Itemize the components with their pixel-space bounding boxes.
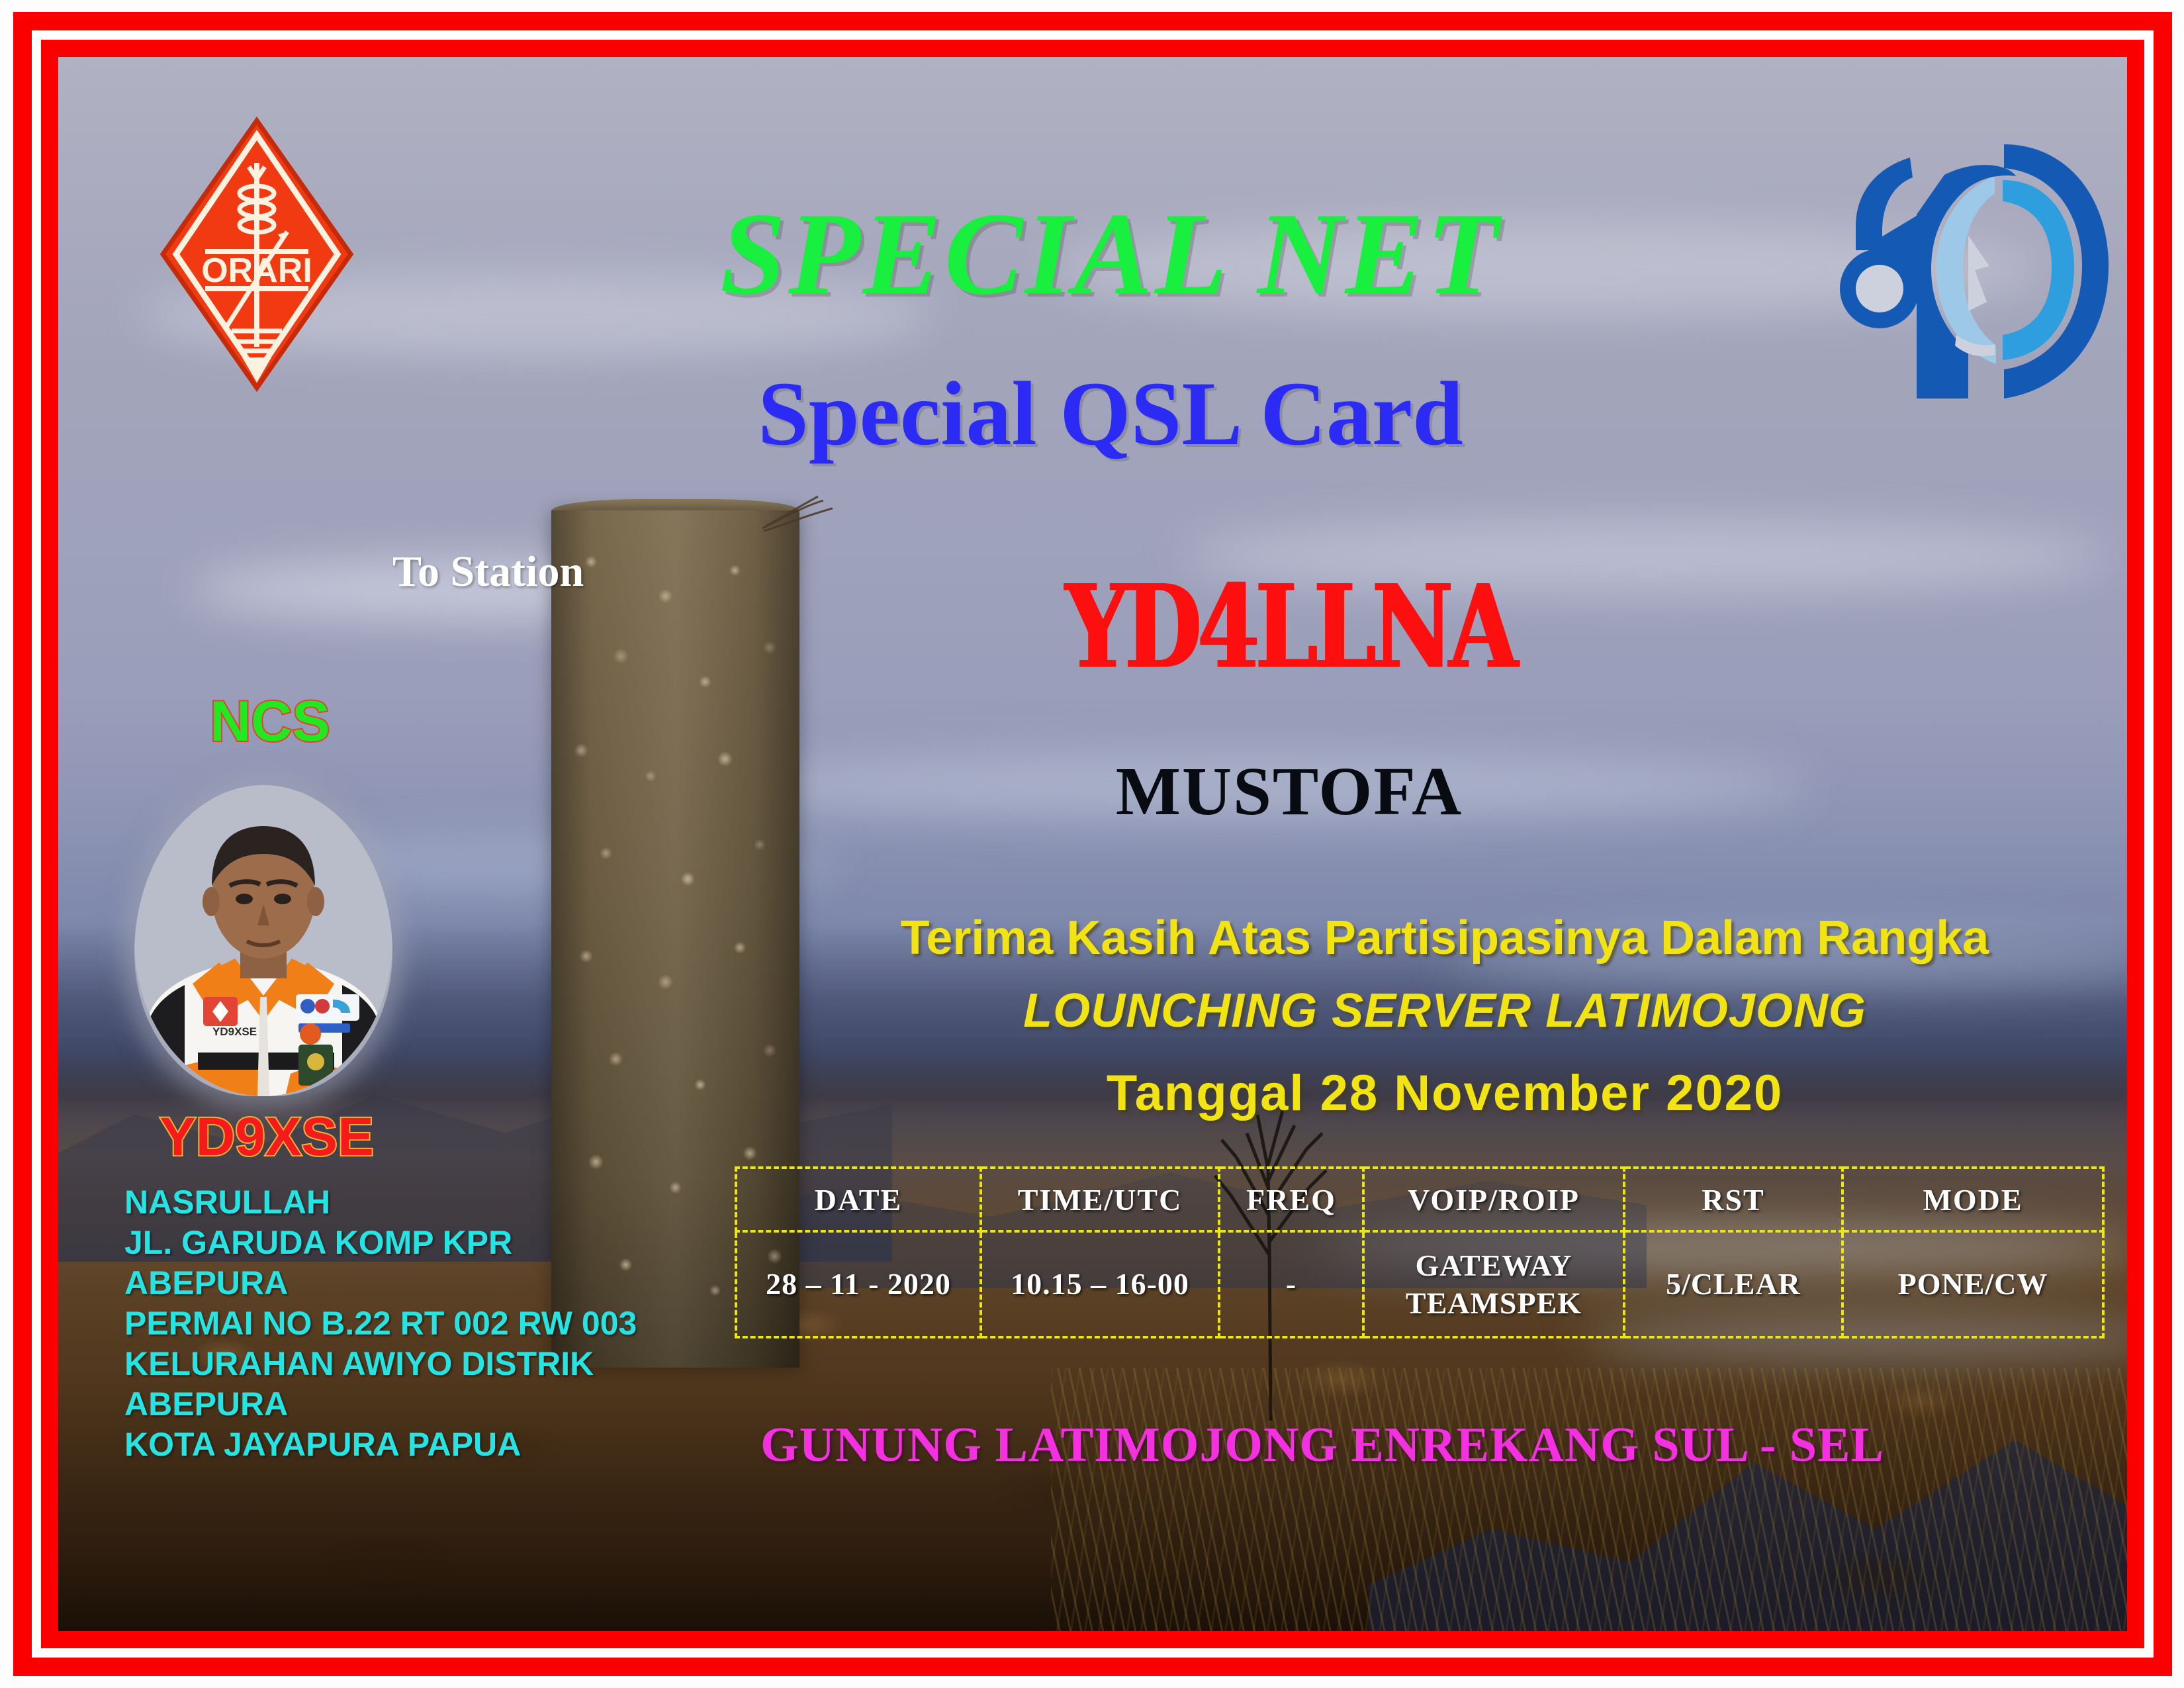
address-line: NASRULLAH (124, 1182, 720, 1223)
station-address-block: NASRULLAH JL. GARUDA KOMP KPR ABEPURA PE… (124, 1182, 720, 1465)
location-caption: GUNUNG LATIMOJONG ENREKANG SUL - SEL (694, 1417, 1951, 1474)
operator-name: MUSTOFA (892, 752, 1686, 831)
headset-profile-soundwave-logo (1839, 136, 2116, 401)
page-title-special-net: SPECIAL NET (482, 195, 1739, 312)
station-callsign: YD4LLNA (916, 570, 1662, 684)
table-header-voip: VOIP/ROIP (1363, 1168, 1624, 1231)
thanks-line-2: LOUNCHING SERVER LATIMOJONG (799, 984, 2090, 1038)
ncs-callsign: YD9XSE (134, 1106, 399, 1168)
thanks-line-3: Tanggal 28 November 2020 (799, 1064, 2090, 1122)
table-header-rst: RST (1624, 1168, 1843, 1231)
thanks-line-1: Terima Kasih Atas Partisipasinya Dalam R… (799, 911, 2090, 965)
table-header-time: TIME/UTC (981, 1168, 1219, 1231)
orari-logo-text: ORARI (201, 252, 312, 290)
page-subtitle-qsl-card: Special QSL Card (482, 368, 1739, 459)
footer-website-address: Address : amatir.latimojong.com (1316, 1629, 2003, 1648)
cell-rst: 5/CLEAR (1624, 1231, 1843, 1337)
address-line: ABEPURA (124, 1263, 720, 1303)
table-header-freq: FREQ (1219, 1168, 1363, 1231)
portrait-illustration: YD9XSE (134, 785, 392, 1096)
address-line: JL. GARUDA KOMP KPR (124, 1223, 720, 1263)
address-line: ABEPURA (124, 1384, 720, 1425)
cell-date: 28 – 11 - 2020 (736, 1231, 981, 1337)
footer-motto: "AMATIR RADIO ADALAH PROGRESIVE" (132, 1629, 1115, 1648)
address-line: PERMAI NO B.22 RT 002 RW 003 (124, 1303, 720, 1344)
cell-voip: GATEWAY TEAMSPEK (1363, 1231, 1624, 1337)
table-row: 28 – 11 - 2020 10.15 – 16-00 - GATEWAY T… (736, 1231, 2103, 1337)
uniform-callsign-text: YD9XSE (212, 1025, 257, 1038)
table-header-row: DATE TIME/UTC FREQ VOIP/ROIP RST MODE (736, 1168, 2103, 1231)
address-line: KOTA JAYAPURA PAPUA (124, 1425, 720, 1465)
table-header-date: DATE (736, 1168, 981, 1231)
ncs-operator-photo: YD9XSE (134, 785, 392, 1096)
address-line: KELURAHAN AWIYO DISTRIK (124, 1344, 720, 1384)
qsl-card: ORARI SPECIAL (0, 0, 2184, 1688)
table-header-mode: MODE (1843, 1168, 2103, 1231)
ncs-label: NCS (184, 689, 356, 755)
orari-diamond-logo: ORARI (158, 115, 356, 393)
cell-mode: PONE/CW (1843, 1231, 2103, 1337)
to-station-label: To Station (392, 547, 584, 597)
cell-time: 10.15 – 16-00 (981, 1231, 1219, 1337)
inner-frame-border: ORARI SPECIAL (41, 40, 2144, 1648)
cell-freq: - (1219, 1231, 1363, 1337)
qso-log-table: DATE TIME/UTC FREQ VOIP/ROIP RST MODE 28… (735, 1166, 2105, 1338)
